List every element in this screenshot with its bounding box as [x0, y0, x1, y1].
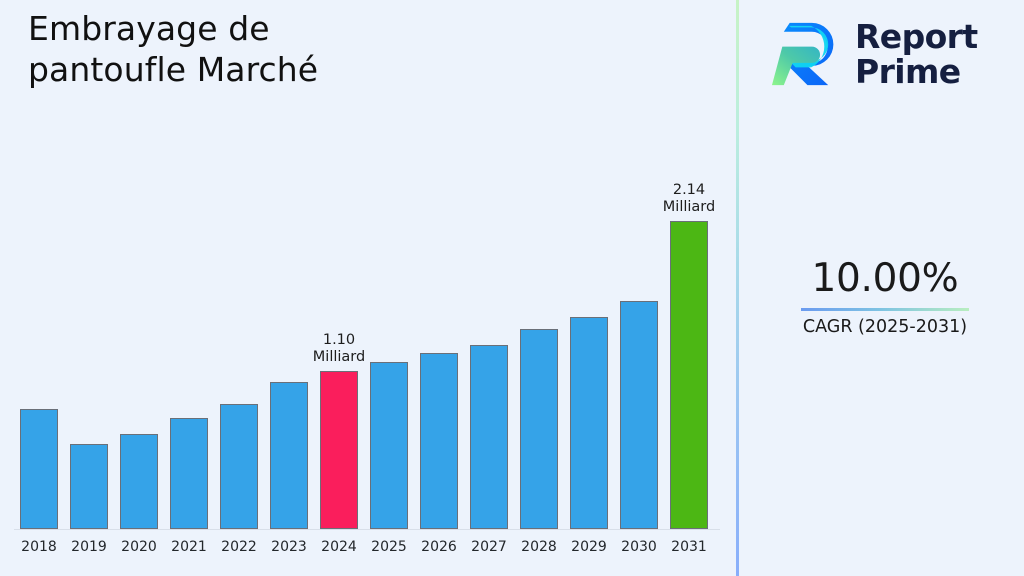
bar-2031 [670, 221, 708, 529]
cagr-label: CAGR (2025-2031) [759, 316, 1011, 338]
bar-2022 [220, 404, 258, 529]
bar-2030 [620, 301, 658, 529]
cagr-divider-rule [801, 308, 969, 311]
cagr-value: 10.00% [759, 255, 1011, 302]
bar-2027 [470, 345, 508, 529]
chart-panel: Embrayage de pantoufle Marché 1.10 Milli… [0, 0, 737, 576]
bar-2028 [520, 329, 558, 529]
summary-panel: Report Prime 10.00% CAGR (2025-2031) [739, 0, 1024, 576]
infographic-slide: Embrayage de pantoufle Marché 1.10 Milli… [0, 0, 1024, 576]
bar-2025 [370, 362, 408, 529]
bar-2020 [120, 434, 158, 529]
bar-value-label-2031: 2.14 Milliard [639, 182, 739, 216]
bar-2021 [170, 418, 208, 529]
bar-2026 [420, 353, 458, 529]
bar-2019 [70, 444, 108, 529]
bar-2018 [20, 409, 58, 529]
bar-value-label-2024: 1.10 Milliard [289, 332, 389, 366]
bar-2023 [270, 382, 308, 529]
bar-chart: 1.10 Milliard2.14 Milliard 2018201920202… [0, 0, 737, 576]
bar-2029 [570, 317, 608, 529]
x-tick-2031: 2031 [659, 539, 719, 555]
brand-name: Report Prime [855, 19, 978, 89]
cagr-block: 10.00% CAGR (2025-2031) [759, 255, 1011, 338]
report-prime-logo-icon [769, 17, 843, 91]
x-axis-line [14, 529, 720, 530]
bar-2024 [320, 371, 358, 529]
brand-logo: Report Prime [769, 12, 1014, 96]
